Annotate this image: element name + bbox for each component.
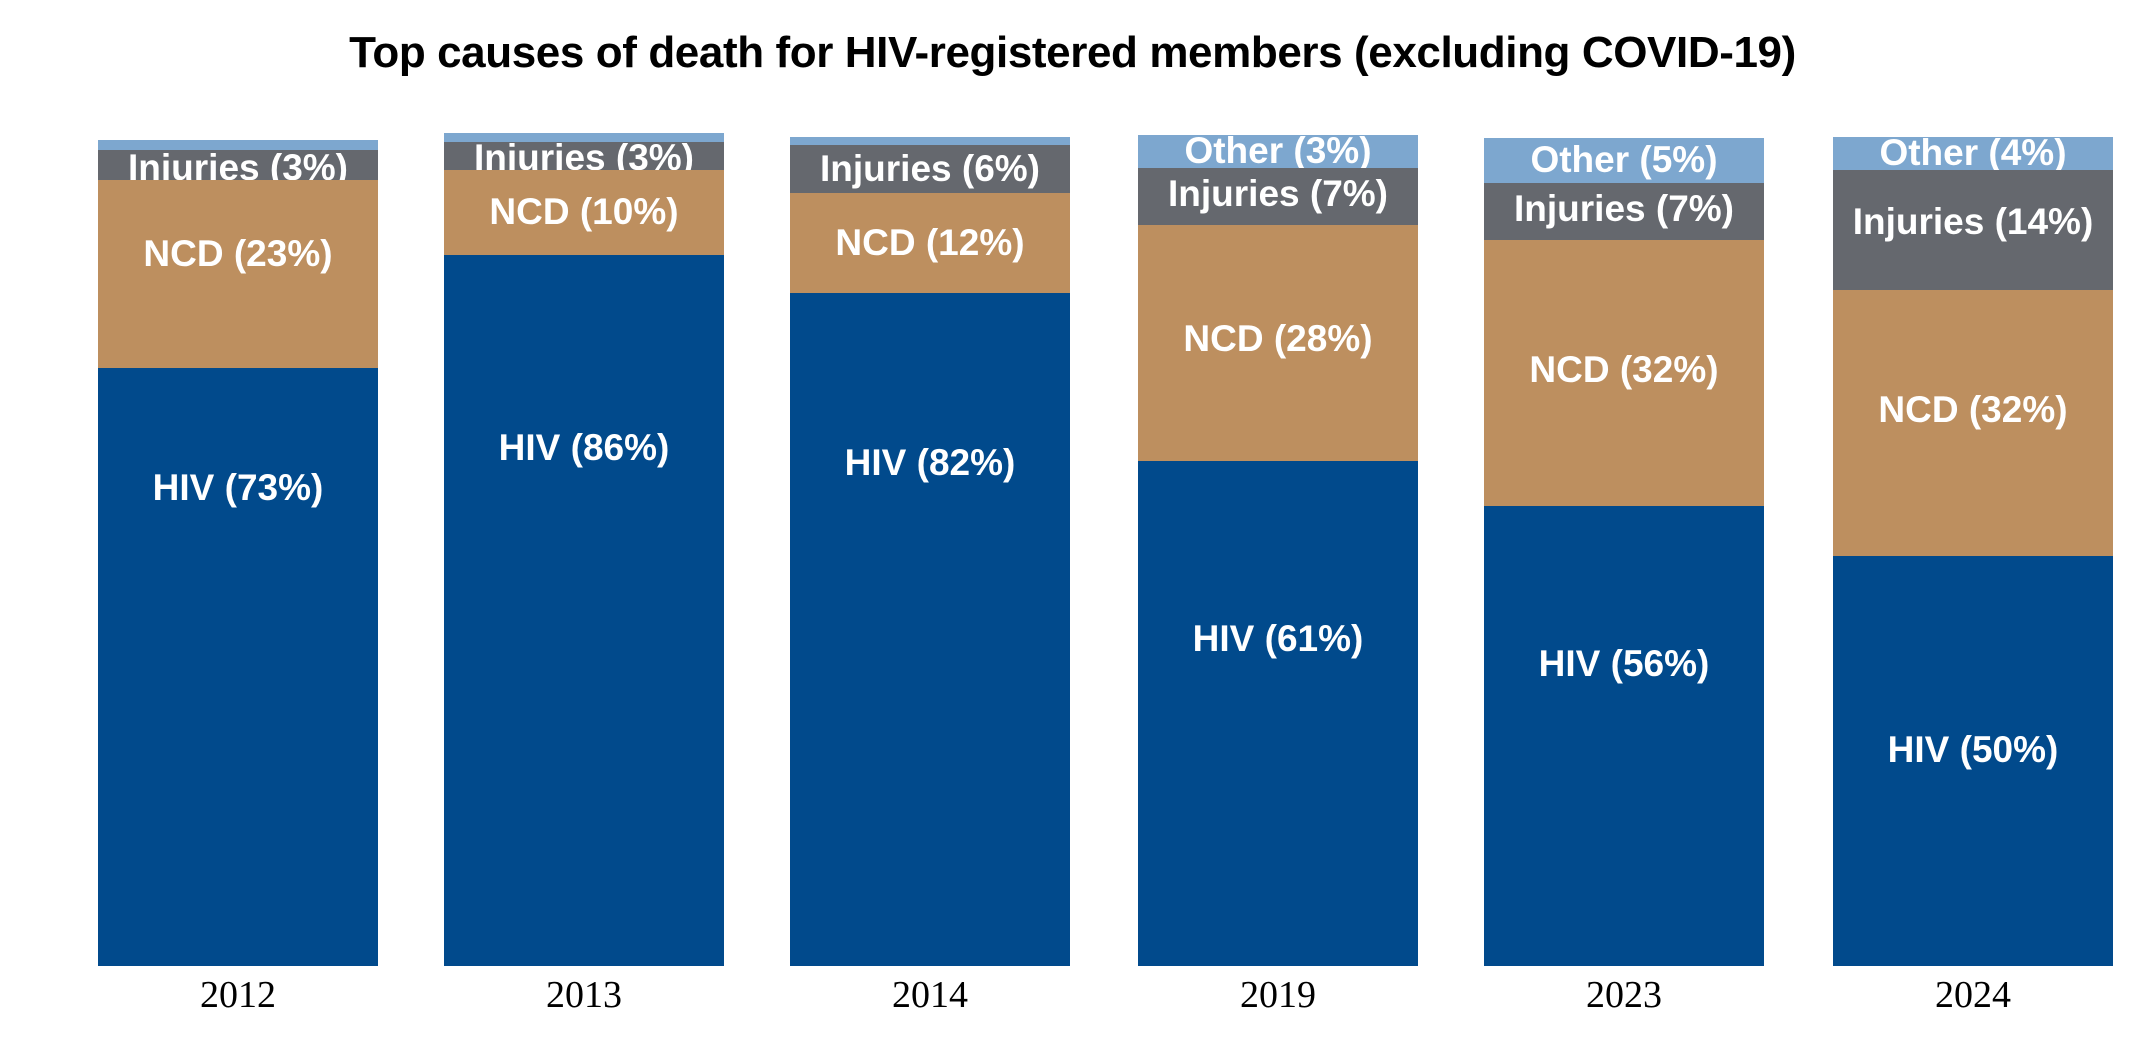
bar-group-2024[interactable]: Other (4%)Injuries (14%)NCD (32%)HIV (50… xyxy=(1833,0,2113,1061)
bar-group-2013[interactable]: Injuries (3%)NCD (10%)HIV (86%)2013 xyxy=(444,0,724,1061)
segment-label-2019-injuries: Injuries (7%) xyxy=(1138,174,1418,214)
bar-segment-2019-ncd[interactable]: NCD (28%) xyxy=(1138,225,1418,461)
segment-label-2013-ncd: NCD (10%) xyxy=(444,192,724,232)
segment-label-2019-ncd: NCD (28%) xyxy=(1138,319,1418,359)
bar-segment-2019-injuries[interactable]: Injuries (7%) xyxy=(1138,168,1418,225)
bar-segment-2023-other[interactable]: Other (5%) xyxy=(1484,138,1764,183)
bar-segment-2023-hiv[interactable]: HIV (56%) xyxy=(1484,506,1764,966)
x-axis-tick-label-2013: 2013 xyxy=(444,973,724,1017)
segment-label-2024-injuries: Injuries (14%) xyxy=(1833,202,2113,242)
segment-label-2024-hiv: HIV (50%) xyxy=(1833,730,2113,770)
stacked-bar-plot-area: Injuries (3%)NCD (23%)HIV (73%)2012Injur… xyxy=(0,0,2145,1061)
segment-label-2014-ncd: NCD (12%) xyxy=(790,223,1070,263)
bar-segment-2024-ncd[interactable]: NCD (32%) xyxy=(1833,290,2113,556)
segment-label-2023-injuries: Injuries (7%) xyxy=(1484,189,1764,229)
bar-segment-2024-hiv[interactable]: HIV (50%) xyxy=(1833,556,2113,966)
x-axis-tick-label-2023: 2023 xyxy=(1484,973,1764,1017)
x-axis-tick-label-2019: 2019 xyxy=(1138,973,1418,1017)
bar-segment-2024-other[interactable]: Other (4%) xyxy=(1833,137,2113,170)
bar-segment-2013-ncd[interactable]: NCD (10%) xyxy=(444,170,724,255)
segment-label-2012-hiv: HIV (73%) xyxy=(98,468,378,508)
segment-label-2024-other: Other (4%) xyxy=(1833,133,2113,173)
segment-label-2014-injuries: Injuries (6%) xyxy=(790,149,1070,189)
segment-label-2023-hiv: HIV (56%) xyxy=(1484,644,1764,684)
chart-page: Top causes of death for HIV-registered m… xyxy=(0,0,2145,1061)
bar-group-2012[interactable]: Injuries (3%)NCD (23%)HIV (73%)2012 xyxy=(98,0,378,1061)
bar-segment-2012-injuries[interactable]: Injuries (3%) xyxy=(98,150,378,180)
bar-segment-2012-ncd[interactable]: NCD (23%) xyxy=(98,180,378,368)
segment-label-2014-hiv: HIV (82%) xyxy=(790,443,1070,483)
bar-segment-2024-injuries[interactable]: Injuries (14%) xyxy=(1833,170,2113,290)
segment-label-2019-hiv: HIV (61%) xyxy=(1138,619,1418,659)
bar-segment-2023-injuries[interactable]: Injuries (7%) xyxy=(1484,183,1764,240)
bar-group-2014[interactable]: Injuries (6%)NCD (12%)HIV (82%)2014 xyxy=(790,0,1070,1061)
bar-group-2019[interactable]: Other (3%)Injuries (7%)NCD (28%)HIV (61%… xyxy=(1138,0,1418,1061)
bar-segment-2013-injuries[interactable]: Injuries (3%) xyxy=(444,142,724,170)
segment-label-2019-other: Other (3%) xyxy=(1138,131,1418,171)
bar-segment-2014-hiv[interactable]: HIV (82%) xyxy=(790,293,1070,966)
segment-label-2023-other: Other (5%) xyxy=(1484,140,1764,180)
bar-segment-2014-injuries[interactable]: Injuries (6%) xyxy=(790,145,1070,193)
segment-label-2013-hiv: HIV (86%) xyxy=(444,428,724,468)
bar-segment-2023-ncd[interactable]: NCD (32%) xyxy=(1484,240,1764,506)
segment-label-2024-ncd: NCD (32%) xyxy=(1833,390,2113,430)
bar-segment-2019-other[interactable]: Other (3%) xyxy=(1138,135,1418,168)
bar-segment-2013-other[interactable] xyxy=(444,133,724,142)
bar-segment-2014-other[interactable] xyxy=(790,137,1070,145)
bar-segment-2014-ncd[interactable]: NCD (12%) xyxy=(790,193,1070,293)
x-axis-tick-label-2014: 2014 xyxy=(790,973,1070,1017)
bar-group-2023[interactable]: Other (5%)Injuries (7%)NCD (32%)HIV (56%… xyxy=(1484,0,1764,1061)
segment-label-2012-ncd: NCD (23%) xyxy=(98,234,378,274)
x-axis-tick-label-2024: 2024 xyxy=(1833,973,2113,1017)
segment-label-2023-ncd: NCD (32%) xyxy=(1484,350,1764,390)
x-axis-tick-label-2012: 2012 xyxy=(98,973,378,1017)
bar-segment-2012-hiv[interactable]: HIV (73%) xyxy=(98,368,378,966)
bar-segment-2012-other[interactable] xyxy=(98,140,378,150)
bar-segment-2019-hiv[interactable]: HIV (61%) xyxy=(1138,461,1418,966)
bar-segment-2013-hiv[interactable]: HIV (86%) xyxy=(444,255,724,966)
